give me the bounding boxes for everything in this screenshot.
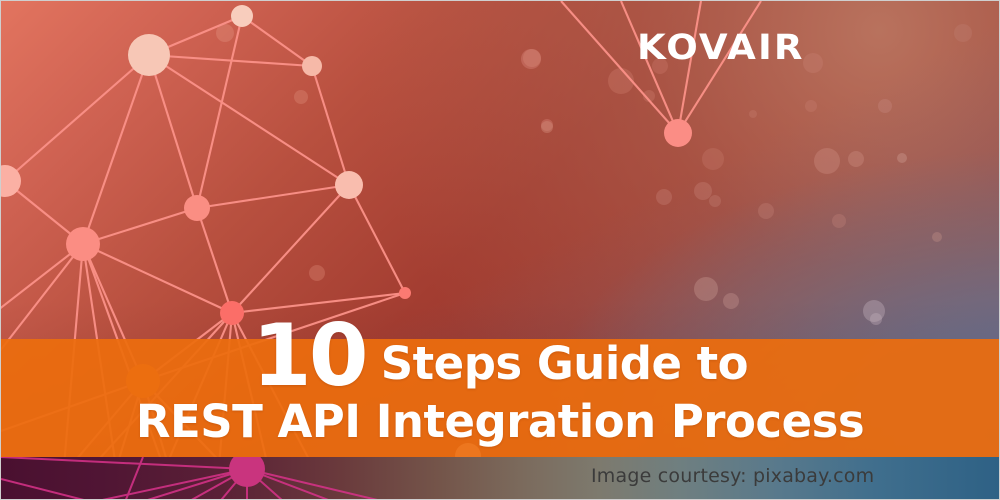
network-node bbox=[541, 121, 553, 133]
network-edge bbox=[149, 55, 349, 185]
network-edge bbox=[197, 208, 232, 313]
kovair-banner-image: 10 Steps Guide to REST API Integration P… bbox=[0, 0, 1000, 500]
network-node bbox=[302, 56, 322, 76]
network-node bbox=[664, 119, 692, 147]
bokeh-circle bbox=[608, 68, 634, 94]
bokeh-circle bbox=[832, 214, 846, 228]
network-edge bbox=[242, 16, 312, 66]
bokeh-circle bbox=[749, 110, 757, 118]
network-edge bbox=[197, 185, 349, 208]
network-edge bbox=[232, 185, 349, 313]
network-edge bbox=[83, 244, 232, 313]
bokeh-circle bbox=[954, 24, 972, 42]
network-edge bbox=[149, 55, 197, 208]
headline-line-1-rest: Steps Guide to bbox=[366, 337, 749, 390]
network-edge bbox=[349, 185, 405, 293]
image-credit-text: Image courtesy: pixabay.com bbox=[591, 465, 874, 487]
bokeh-circle bbox=[805, 100, 817, 112]
bokeh-circle bbox=[814, 148, 840, 174]
bokeh-circle bbox=[294, 90, 308, 104]
headline-line-2: REST API Integration Process bbox=[1, 399, 999, 444]
bokeh-circle bbox=[848, 151, 864, 167]
network-node bbox=[184, 195, 210, 221]
bokeh-circle bbox=[702, 148, 724, 170]
network-node bbox=[399, 287, 411, 299]
headline-number: 10 bbox=[252, 306, 366, 406]
kovair-logo: KOVAIR bbox=[637, 31, 805, 66]
credit-bar-network-decoration bbox=[1, 457, 641, 499]
bokeh-circle bbox=[709, 195, 721, 207]
bokeh-circle bbox=[803, 53, 823, 73]
headline-text: 10 Steps Guide to REST API Integration P… bbox=[1, 313, 999, 444]
bokeh-circle bbox=[694, 277, 718, 301]
network-node bbox=[128, 34, 170, 76]
network-node bbox=[523, 49, 541, 67]
bokeh-circle bbox=[656, 189, 672, 205]
bokeh-circle bbox=[309, 265, 325, 281]
network-node bbox=[335, 171, 363, 199]
bokeh-circle bbox=[758, 203, 774, 219]
bokeh-circle bbox=[723, 293, 739, 309]
network-edge bbox=[312, 66, 349, 185]
network-edge bbox=[83, 208, 197, 244]
headline-line-1: 10 Steps Guide to bbox=[1, 313, 999, 399]
network-node bbox=[66, 227, 100, 261]
network-node bbox=[231, 5, 253, 27]
bokeh-circle bbox=[694, 182, 712, 200]
image-credit-bar: Image courtesy: pixabay.com bbox=[1, 457, 999, 499]
bokeh-circle bbox=[878, 99, 892, 113]
bokeh-circle bbox=[897, 153, 907, 163]
bokeh-circle bbox=[932, 232, 942, 242]
